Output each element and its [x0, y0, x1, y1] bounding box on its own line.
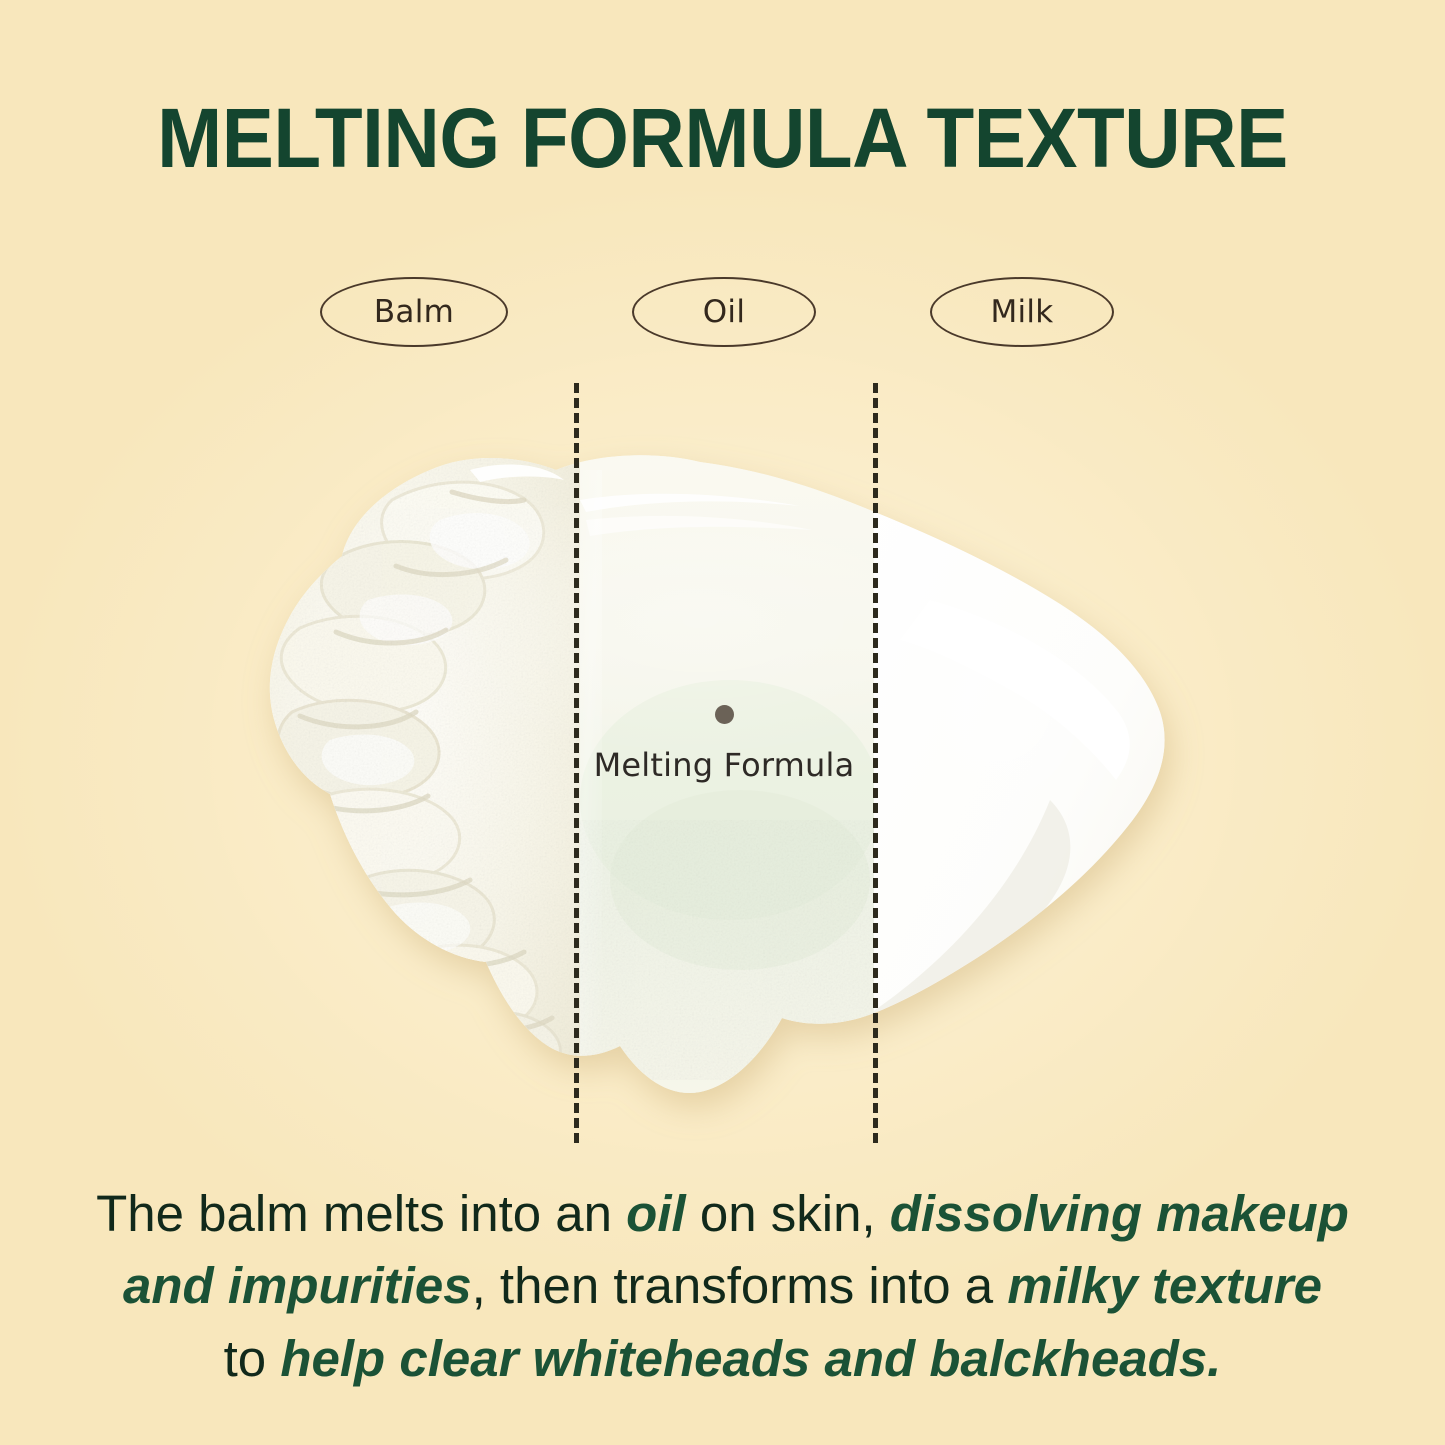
product-texture-infographic: MELTING FORMULA TEXTURE Balm Oil Milk [0, 0, 1445, 1445]
caption-run-2-1: and impurities [123, 1257, 472, 1314]
caption-line-2: and impurities, then transforms into a m… [90, 1250, 1355, 1322]
caption-line-3: to help clear whiteheads and balckheads. [90, 1323, 1355, 1395]
callout-label: Melting Formula [575, 746, 873, 784]
caption-paragraph: The balm melts into an oil on skin, diss… [0, 1178, 1445, 1395]
balm-region [240, 420, 585, 1140]
caption-run-2-2: , then transforms into a [472, 1257, 1008, 1314]
callout-dot-icon [715, 705, 734, 724]
stage-label-milk: Milk [930, 277, 1114, 347]
caption-line-1: The balm melts into an oil on skin, diss… [90, 1178, 1355, 1250]
stage-label-balm: Balm [320, 277, 508, 347]
page-title: MELTING FORMULA TEXTURE [51, 96, 1395, 180]
milk-region [860, 420, 1220, 1140]
caption-run-1-1: The balm melts into an [96, 1185, 626, 1242]
caption-run-1-3: on skin, [686, 1185, 890, 1242]
caption-run-1-2: oil [626, 1185, 686, 1242]
stage-label-oil-text: Oil [703, 294, 746, 330]
stage-label-milk-text: Milk [990, 294, 1053, 330]
stage-label-balm-text: Balm [374, 294, 454, 330]
melting-formula-callout: Melting Formula [575, 705, 873, 784]
caption-run-1-4: dissolving makeup [890, 1185, 1349, 1242]
caption-run-3-2: help clear whiteheads and balckheads. [280, 1330, 1221, 1387]
divider-oil-milk [873, 383, 878, 1143]
caption-run-2-3: milky texture [1007, 1257, 1322, 1314]
caption-run-3-1: to [224, 1330, 281, 1387]
stage-label-oil: Oil [632, 277, 816, 347]
